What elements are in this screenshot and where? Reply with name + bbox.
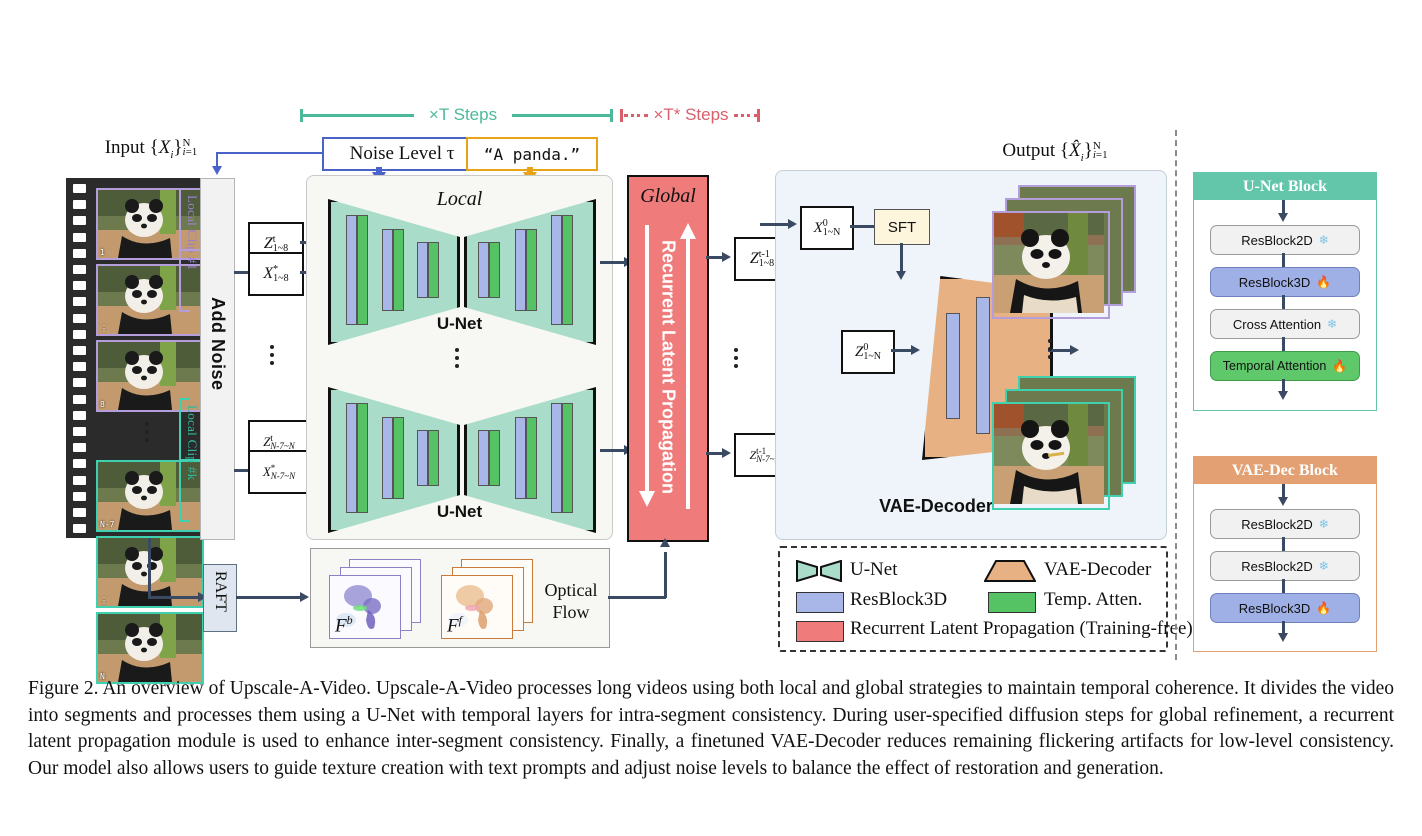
vae-block-arrow-in-head bbox=[1278, 497, 1288, 506]
filmstrip-perforation bbox=[73, 411, 86, 420]
optical-flow-label: Optical Flow bbox=[539, 579, 603, 623]
output-stack-top bbox=[992, 185, 1132, 315]
temporal-attention-bar bbox=[526, 417, 537, 499]
decoder-out-head bbox=[1070, 345, 1079, 355]
addnoise-ellipsis bbox=[270, 345, 274, 365]
optical-flow-label-line1: Optical bbox=[545, 580, 598, 600]
sft-label: SFT bbox=[888, 219, 916, 236]
vae-block-row-resblock2d-2[interactable]: ResBlock2D ❄ bbox=[1210, 551, 1360, 581]
frame-index-label: ⋮ bbox=[100, 596, 108, 605]
legend-rlp-label: Recurrent Latent Propagation (Training-f… bbox=[850, 618, 1193, 640]
resblock3d-bar bbox=[515, 229, 526, 311]
resblock3d-bar bbox=[382, 229, 393, 311]
resblock3d-bar bbox=[551, 215, 562, 325]
decoder-z0-box: Z01~N bbox=[841, 330, 895, 374]
filmstrip-perforation bbox=[73, 200, 86, 209]
forward-flow-label: Ff bbox=[447, 613, 462, 637]
local-steps-line-right bbox=[512, 114, 612, 117]
snowflake-icon: ❄ bbox=[1319, 517, 1329, 531]
filmstrip-perforation bbox=[73, 281, 86, 290]
steps-bar: ×T Steps ×T* Steps bbox=[300, 104, 760, 130]
frame-index-label: N bbox=[100, 672, 105, 681]
vae-block-title: VAE-Dec Block bbox=[1194, 457, 1376, 484]
z0-to-decoder-head bbox=[911, 345, 920, 355]
vae-block-conn-2 bbox=[1282, 579, 1285, 593]
vae-block-card: VAE-Dec Block ResBlock2D ❄ ResBlock2D ❄ … bbox=[1193, 456, 1377, 652]
filmstrip-perforation bbox=[73, 265, 86, 274]
global-block: Global Recurrent Latent Propagation bbox=[627, 175, 709, 542]
legend-rlp-icon bbox=[796, 621, 844, 642]
unet-row-label: Temporal Attention bbox=[1223, 359, 1327, 373]
legend-unet-icon bbox=[796, 560, 842, 582]
trapezoid-icon bbox=[984, 560, 1036, 582]
global-steps-dots-right bbox=[734, 114, 758, 120]
latent-x-top-box: X*1~8 bbox=[248, 252, 304, 296]
legend-temp-atten-label: Temp. Atten. bbox=[1044, 589, 1142, 611]
fire-icon: 🔥 bbox=[1316, 601, 1331, 615]
filmstrip-perforation bbox=[73, 362, 86, 371]
legend-panel: U-Net VAE-Decoder ResBlock3D Temp. Atten… bbox=[778, 546, 1168, 652]
decoder-x0-label: X01~N bbox=[814, 219, 841, 237]
sft-box: SFT bbox=[874, 209, 930, 245]
resblock3d-bar bbox=[478, 430, 489, 486]
legend-resblock3d-label: ResBlock3D bbox=[850, 589, 947, 611]
temporal-attention-bar bbox=[357, 215, 368, 325]
output-frame-front bbox=[992, 402, 1110, 510]
legend-vae-label: VAE-Decoder bbox=[1044, 559, 1151, 581]
unet2-to-global bbox=[600, 449, 626, 452]
filmstrip-perforation bbox=[73, 443, 86, 452]
flow-to-global-head bbox=[660, 538, 670, 547]
output-title: Output {X̂i}Ni=1 bbox=[930, 140, 1180, 164]
frame-index-label: ⋮ bbox=[100, 324, 108, 333]
bowtie-icon bbox=[796, 560, 842, 582]
filmstrip-perforation bbox=[73, 427, 86, 436]
backward-flow-stack: Fb bbox=[329, 559, 423, 637]
filmstrip-perforation bbox=[73, 233, 86, 242]
unet-block-card: U-Net Block ResBlock2D ❄ ResBlock3D 🔥 Cr… bbox=[1193, 172, 1377, 411]
right-column-divider bbox=[1175, 130, 1177, 660]
unet-block-arrow-out-head bbox=[1278, 391, 1288, 400]
global-steps-label: ×T* Steps bbox=[648, 105, 734, 125]
add-noise-block: Add Noise bbox=[200, 178, 235, 540]
global-title: Global bbox=[629, 185, 707, 208]
unet-block-row-resblock2d[interactable]: ResBlock2D ❄ bbox=[1210, 225, 1360, 255]
filmstrip-perforation bbox=[73, 395, 86, 404]
local-clip-k-label: Local Clip #k bbox=[184, 405, 200, 480]
output-stack-bottom bbox=[992, 376, 1132, 506]
legend-temp-atten-icon bbox=[988, 592, 1036, 613]
filmstrip-ellipsis bbox=[145, 422, 149, 442]
resblock3d-bar bbox=[976, 297, 990, 434]
backward-flow-label: Fb bbox=[335, 613, 353, 637]
latent-z-top-label: Zt1~8 bbox=[264, 235, 288, 253]
global-down-arrow-shaft bbox=[645, 225, 649, 495]
filmstrip-perforation bbox=[73, 459, 86, 468]
noise-level-label: Noise Level τ bbox=[350, 143, 455, 165]
local-ellipsis bbox=[455, 348, 459, 368]
frame-index-label: 1 bbox=[100, 248, 105, 257]
filmstrip-perforation bbox=[73, 378, 86, 387]
frame-index-label: 8 bbox=[100, 400, 105, 409]
forward-flow-stack: Ff bbox=[441, 559, 535, 637]
temporal-attention-bar bbox=[526, 229, 537, 311]
resblock3d-bar bbox=[382, 417, 393, 499]
text-prompt-label: “A panda.” bbox=[484, 145, 580, 164]
resblock3d-bar bbox=[515, 417, 526, 499]
global-steps-right-cap bbox=[757, 109, 760, 122]
raft-to-flow-line bbox=[236, 596, 302, 599]
noise-level-box[interactable]: Noise Level τ bbox=[322, 137, 482, 171]
global-steps-left-cap bbox=[620, 109, 623, 122]
raft-to-flow-head bbox=[300, 592, 309, 602]
global-to-zbot-head bbox=[722, 448, 731, 458]
z0-to-decoder bbox=[891, 349, 913, 352]
filmstrip-perforation bbox=[73, 216, 86, 225]
legend-resblock3d-icon bbox=[796, 592, 844, 613]
frame-index-label: N-7 bbox=[100, 520, 114, 529]
panda-thumbnail bbox=[98, 266, 202, 334]
filmstrip-perforation bbox=[73, 297, 86, 306]
global-label: Recurrent Latent Propagation bbox=[655, 227, 681, 507]
sft-down-arrow bbox=[896, 271, 906, 280]
unet-row-label: ResBlock2D bbox=[1241, 233, 1313, 248]
unet-row-label: Cross Attention bbox=[1233, 317, 1321, 332]
text-prompt-box[interactable]: “A panda.” bbox=[466, 137, 598, 171]
figure-caption: Figure 2. An overview of Upscale-A-Video… bbox=[28, 676, 1394, 782]
global-up-arrow-head bbox=[680, 223, 696, 239]
post-global-ellipsis bbox=[734, 348, 738, 368]
output-ellipsis bbox=[1048, 339, 1052, 359]
global-to-x0-line bbox=[760, 223, 790, 226]
optical-flow-label-line2: Flow bbox=[552, 602, 589, 622]
decoder-x0-box: X01~N bbox=[800, 206, 854, 250]
output-frame-front bbox=[992, 211, 1110, 319]
latent-x-bot-box: X*N-7~N bbox=[248, 450, 310, 494]
local-panel: Local U-Net U-Net bbox=[306, 175, 613, 540]
filmstrip-perforation bbox=[73, 330, 86, 339]
vae-row-label: ResBlock2D bbox=[1241, 559, 1313, 574]
legend-vae-icon bbox=[984, 560, 1036, 582]
filmstrip-perforation bbox=[73, 184, 86, 193]
vae-row-label: ResBlock3D bbox=[1239, 601, 1311, 616]
input-title: Input {Xi}Ni=1 bbox=[66, 137, 236, 161]
fire-icon: 🔥 bbox=[1316, 275, 1331, 289]
filmstrip-perforation bbox=[73, 508, 86, 517]
resblock3d-bar bbox=[346, 215, 357, 325]
latent-z-bot-label: ZtN-7~N bbox=[263, 434, 295, 450]
snowflake-icon: ❄ bbox=[1319, 233, 1329, 247]
legend-unet-label: U-Net bbox=[850, 559, 897, 581]
vae-block-row-resblock2d-1[interactable]: ResBlock2D ❄ bbox=[1210, 509, 1360, 539]
temporal-attention-bar bbox=[489, 430, 500, 486]
unet-block-conn-1 bbox=[1282, 253, 1285, 267]
input-frame-8: 8 bbox=[96, 340, 204, 412]
filmstrip-perforation bbox=[73, 492, 86, 501]
local-steps-line-left bbox=[302, 114, 414, 117]
resblock3d-bar bbox=[946, 313, 960, 419]
noise-level-arrow bbox=[212, 166, 222, 175]
x0-to-sft bbox=[850, 225, 874, 228]
unet1-to-global bbox=[600, 261, 626, 264]
temporal-attention-bar bbox=[489, 242, 500, 298]
optical-flow-panel: Fb Ff Optical Flow bbox=[310, 548, 610, 648]
latent-x-top-label: X*1~8 bbox=[263, 265, 288, 283]
filmstrip-down-line bbox=[148, 538, 151, 598]
flow-to-global-h bbox=[608, 596, 666, 599]
vae-block-row-resblock3d[interactable]: ResBlock3D 🔥 bbox=[1210, 593, 1360, 623]
snowflake-icon: ❄ bbox=[1319, 559, 1329, 573]
unet-row-label: ResBlock3D bbox=[1239, 275, 1311, 290]
local-steps-right-cap bbox=[610, 109, 613, 122]
filmstrip-perforation bbox=[73, 524, 86, 533]
resblock3d-bar bbox=[346, 403, 357, 513]
resblock3d-bar bbox=[551, 403, 562, 513]
filmstrip-perforation bbox=[73, 476, 86, 485]
panda-thumbnail bbox=[98, 614, 202, 682]
unet-block-title: U-Net Block bbox=[1194, 173, 1376, 200]
temporal-attention-bar bbox=[393, 229, 404, 311]
flow-to-global-v bbox=[664, 552, 667, 598]
temporal-attention-bar bbox=[562, 403, 573, 513]
noise-level-line-h bbox=[216, 152, 322, 154]
vae-block-conn-1 bbox=[1282, 537, 1285, 551]
raft-box: RAFT bbox=[203, 564, 237, 632]
temporal-attention-bar bbox=[393, 417, 404, 499]
global-to-ztop-head bbox=[722, 252, 731, 262]
vae-row-label: ResBlock2D bbox=[1241, 517, 1313, 532]
filmstrip-perforation bbox=[73, 346, 86, 355]
latent-x-bot-label: X*N-7~N bbox=[263, 464, 295, 480]
global-down-arrow-head bbox=[639, 491, 655, 507]
global-steps-dots-left bbox=[624, 114, 648, 120]
input-frame-2: ⋮ bbox=[96, 264, 204, 336]
local-clip-1-label: Local Clip #1 bbox=[184, 195, 200, 270]
unet-block-conn-3 bbox=[1282, 337, 1285, 351]
panda-output-image bbox=[994, 213, 1104, 313]
global-to-x0-head bbox=[788, 219, 797, 229]
add-noise-label: Add Noise bbox=[207, 297, 228, 391]
fire-icon: 🔥 bbox=[1332, 359, 1347, 373]
input-frame-n: N bbox=[96, 612, 204, 684]
unet-label-1: U-Net bbox=[307, 314, 612, 334]
filmstrip-perforation bbox=[73, 314, 86, 323]
vae-block-arrow-out-head bbox=[1278, 633, 1288, 642]
unet-block-arrow-in-head bbox=[1278, 213, 1288, 222]
unet-block-row-resblock3d[interactable]: ResBlock3D 🔥 bbox=[1210, 267, 1360, 297]
snowflake-icon: ❄ bbox=[1327, 317, 1337, 331]
raft-label: RAFT bbox=[211, 571, 229, 612]
temporal-attention-bar bbox=[562, 215, 573, 325]
filmstrip-to-raft-line bbox=[148, 596, 200, 599]
unet-label-2: U-Net bbox=[307, 502, 612, 522]
resblock3d-bar bbox=[417, 242, 428, 298]
post-latent-z-top-label: Zt-11~8 bbox=[750, 250, 774, 268]
temporal-attention-bar bbox=[428, 430, 439, 486]
vae-decoder-panel: VAE-Decoder X01~N SFT Z01~N bbox=[775, 170, 1167, 540]
unet-block-row-temporal-attention[interactable]: Temporal Attention 🔥 bbox=[1210, 351, 1360, 381]
resblock3d-bar bbox=[478, 242, 489, 298]
resblock3d-bar bbox=[417, 430, 428, 486]
local-steps-label: ×T Steps bbox=[418, 105, 508, 125]
decoder-z0-label: Z01~N bbox=[855, 343, 881, 361]
filmstrip-perforation bbox=[73, 249, 86, 258]
temporal-attention-bar bbox=[428, 242, 439, 298]
panda-output-image bbox=[994, 404, 1104, 504]
unet-block-conn-2 bbox=[1282, 295, 1285, 309]
temporal-attention-bar bbox=[357, 403, 368, 513]
global-up-arrow-shaft bbox=[686, 239, 690, 509]
unet-block-row-cross-attention[interactable]: Cross Attention ❄ bbox=[1210, 309, 1360, 339]
